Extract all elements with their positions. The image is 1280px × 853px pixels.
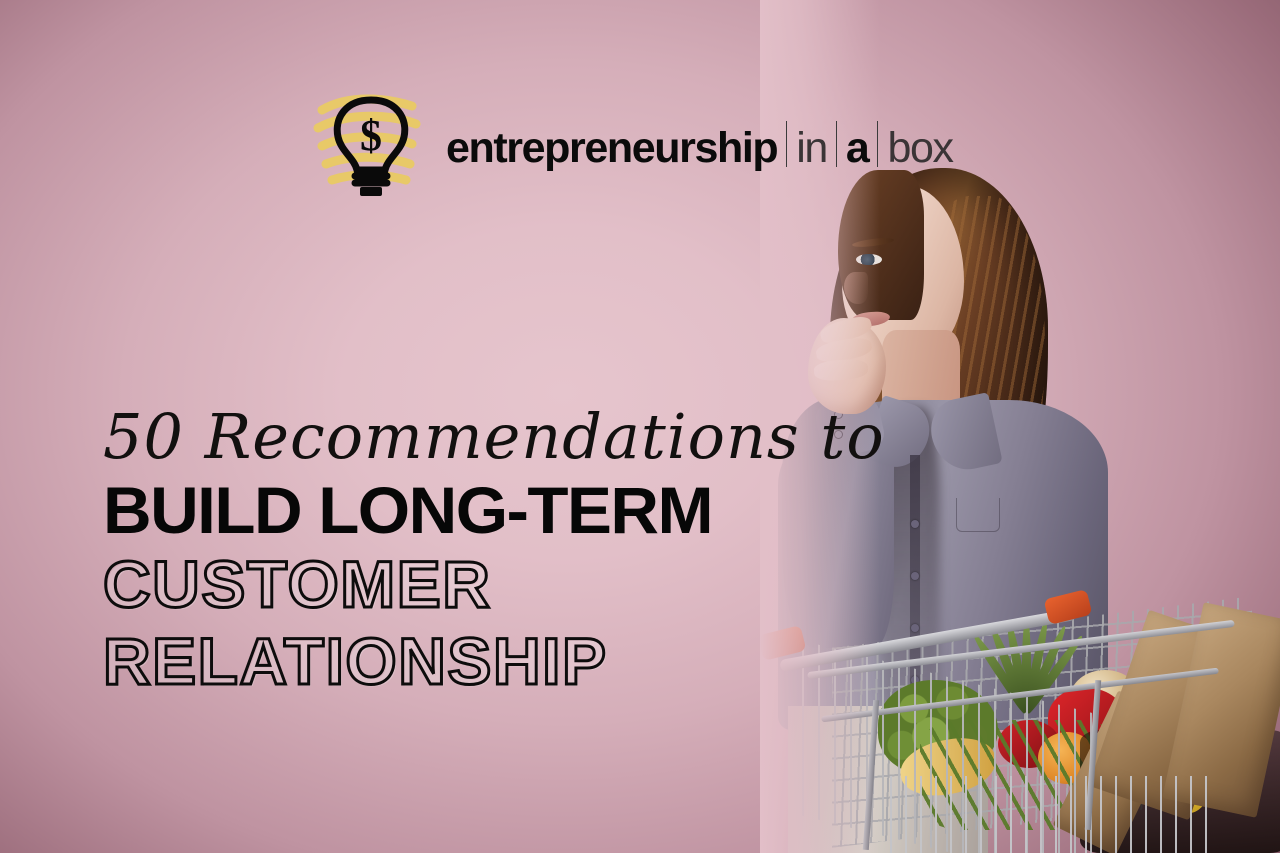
headline-block: 50 Recommendations to BUILD LONG-TERM CU…	[103, 404, 885, 698]
logo-word-in: in	[796, 127, 827, 170]
bulb-glyph: $	[312, 84, 430, 202]
headline-outline-line-1: CUSTOMER	[103, 549, 885, 620]
headline-outline-line-2: RELATIONSHIP	[103, 626, 885, 697]
eye	[856, 254, 882, 265]
shirt-pocket	[956, 498, 1000, 532]
logo-separator	[877, 121, 878, 167]
cart-lower-mesh	[890, 776, 1220, 853]
headline-script-line: 50 Recommendations to	[103, 404, 885, 469]
logo-separator	[786, 121, 787, 167]
logo-separator	[836, 121, 837, 167]
logo-word-main: entrepreneurship	[446, 127, 777, 170]
logo-wordmark: entrepreneurship in a box	[446, 116, 953, 170]
featured-image-banner: $ entrepreneurship in a box 50 Recommend…	[0, 0, 1280, 853]
logo-word-box: box	[887, 127, 952, 170]
shirt-button	[911, 520, 919, 528]
svg-text:$: $	[360, 111, 382, 160]
logo-word-a: a	[846, 127, 869, 170]
shirt-button	[911, 572, 919, 580]
nose	[844, 272, 868, 304]
lightbulb-dollar-icon: $	[312, 84, 430, 202]
site-logo[interactable]: $ entrepreneurship in a box	[312, 84, 953, 202]
headline-bold-line: BUILD LONG-TERM	[103, 477, 900, 543]
